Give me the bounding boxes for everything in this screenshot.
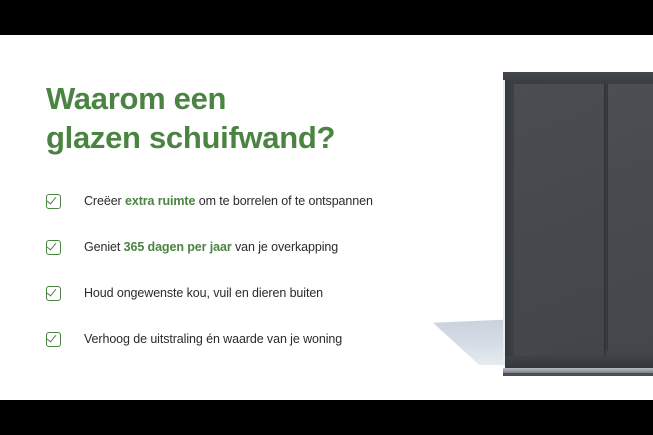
list-item-text-post: om te borrelen of te ontspannen <box>195 194 372 208</box>
frame-rail-top <box>503 72 653 83</box>
list-item-label: Verhoog de uitstraling én waarde van je … <box>84 331 342 347</box>
glass-panel-left <box>514 84 604 356</box>
page-title-line-1: Waarom een <box>46 81 226 116</box>
benefit-list: Creëer extra ruimte om te borrelen of te… <box>46 193 373 377</box>
checkbox-check-icon <box>46 240 61 255</box>
list-item-label: Geniet 365 dagen per jaar van je overkap… <box>84 239 338 255</box>
list-item-text-post: van je overkapping <box>232 240 339 254</box>
list-item-label: Houd ongewenste kou, vuil en dieren buit… <box>84 285 323 301</box>
checkbox-check-icon <box>46 194 61 209</box>
checkbox-check-icon <box>46 332 61 347</box>
frame-post-left <box>505 80 514 366</box>
frame-sill-lip <box>503 373 653 376</box>
list-item-text-pre: Houd ongewenste kou, vuil en dieren buit… <box>84 286 323 300</box>
list-item: Geniet 365 dagen per jaar van je overkap… <box>46 239 373 285</box>
letterbox-bar-top <box>0 0 653 35</box>
list-item-text-pre: Verhoog de uitstraling én waarde van je … <box>84 332 342 346</box>
list-item-label: Creëer extra ruimte om te borrelen of te… <box>84 193 373 209</box>
page-title: Waarom een glazen schuifwand? <box>46 79 335 157</box>
slide-canvas: Waarom een glazen schuifwand? Creëer ext… <box>0 0 653 435</box>
sliding-wall-frame <box>503 72 653 366</box>
glass-sliding-wall-photo <box>420 35 653 400</box>
glass-mullion-center <box>604 84 608 356</box>
list-item: Verhoog de uitstraling én waarde van je … <box>46 331 373 377</box>
check-mark-icon <box>47 332 57 342</box>
list-item-text-highlight: 365 dagen per jaar <box>124 240 232 254</box>
list-item-text-pre: Creëer <box>84 194 125 208</box>
checkbox-check-icon <box>46 286 61 301</box>
letterbox-bar-bottom <box>0 400 653 435</box>
check-mark-icon <box>47 194 57 204</box>
list-item-text-highlight: extra ruimte <box>125 194 195 208</box>
page-title-line-2: glazen schuifwand? <box>46 120 335 155</box>
list-item: Creëer extra ruimte om te borrelen of te… <box>46 193 373 239</box>
glass-panel-right <box>608 84 653 356</box>
slide-content-area: Waarom een glazen schuifwand? Creëer ext… <box>0 35 653 400</box>
list-item-text-pre: Geniet <box>84 240 124 254</box>
check-mark-icon <box>47 286 57 296</box>
check-mark-icon <box>47 240 57 250</box>
list-item: Houd ongewenste kou, vuil en dieren buit… <box>46 285 373 331</box>
